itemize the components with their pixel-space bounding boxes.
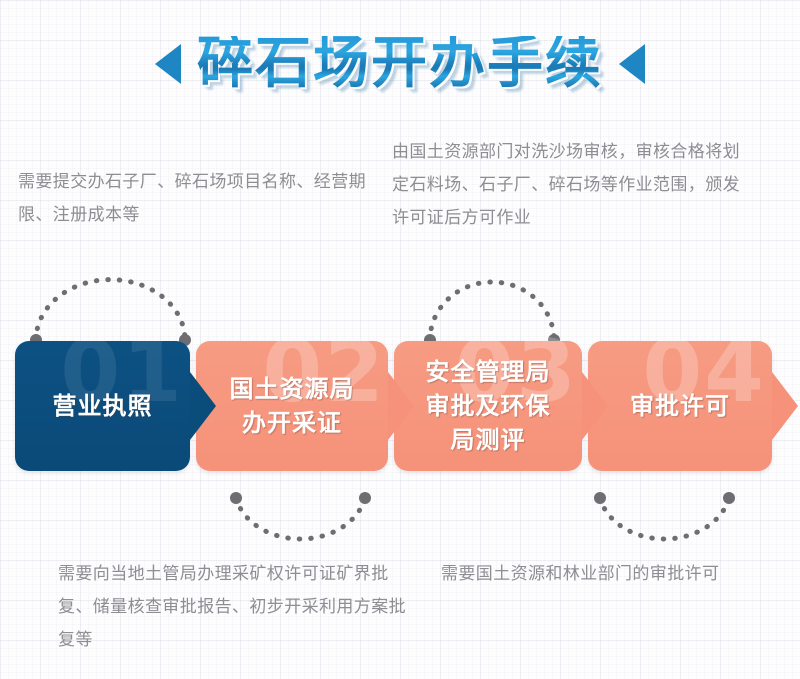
step-1-business-license[interactable]: 01 营业执照 bbox=[15, 341, 190, 471]
step-4-approval-permit[interactable]: 04 审批许可 bbox=[588, 341, 772, 471]
page-title: 碎石场开办手续 bbox=[197, 36, 603, 92]
description-top-left: 需要提交办石子厂、碎石场项目名称、经营期限、注册成本等 bbox=[18, 166, 374, 232]
step-3-safety-and-environment[interactable]: 03 安全管理局 审批及环保 局测评 bbox=[394, 341, 582, 471]
step-4-chevron-tip bbox=[772, 372, 798, 440]
step-3-chevron-tip bbox=[582, 372, 608, 440]
title-band: 碎石场开办手续 bbox=[0, 18, 800, 110]
process-steps: 01 营业执照 02 国土资源局 办开采证 03 安全管理局 审批及环保 局测评… bbox=[0, 341, 800, 471]
step-1-chevron-tip bbox=[190, 372, 216, 440]
step-2-label: 国土资源局 办开采证 bbox=[220, 372, 365, 440]
connector-arc-step3-top-right bbox=[422, 268, 562, 348]
title-left-arrow-icon bbox=[155, 44, 181, 84]
step-1-label: 营业执照 bbox=[43, 389, 163, 423]
step-2-chevron-tip bbox=[388, 372, 414, 440]
title-right-arrow-icon bbox=[619, 44, 645, 84]
description-bottom-left: 需要向当地土管局办理采矿权许可证矿界批复、储量核查审批报告、初步开采利用方案批复… bbox=[58, 558, 410, 657]
connector-arc-step1-top-left bbox=[28, 268, 193, 348]
description-top-right: 由国土资源部门对洗沙场审核，审核合格将划定石料场、石子厂、碎石场等作业范围，颁发… bbox=[392, 136, 744, 235]
description-bottom-right: 需要国土资源和林业部门的审批许可 bbox=[441, 558, 781, 591]
connector-arc-step2-bottom-left bbox=[228, 490, 373, 560]
step-3-label: 安全管理局 审批及环保 局测评 bbox=[416, 355, 561, 457]
infographic-page: 碎石场开办手续 需要提交办石子厂、碎石场项目名称、经营期限、注册成本等 由国土资… bbox=[0, 0, 800, 679]
connector-arc-step4-bottom-right bbox=[592, 490, 737, 560]
step-4-label: 审批许可 bbox=[620, 389, 740, 423]
step-2-land-resources-bureau[interactable]: 02 国土资源局 办开采证 bbox=[196, 341, 388, 471]
